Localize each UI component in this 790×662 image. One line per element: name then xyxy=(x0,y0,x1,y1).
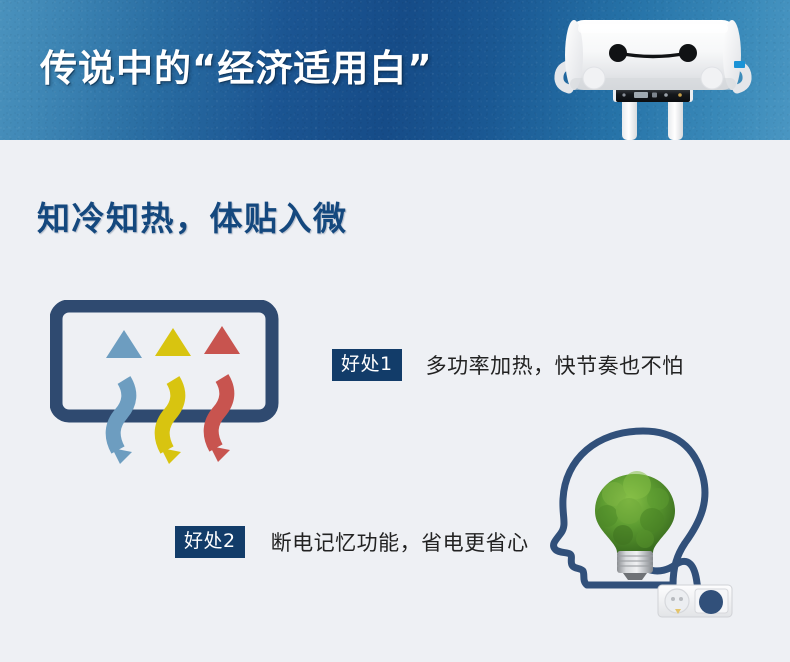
benefit-row-2: 好处2 断电记忆功能，省电更省心 xyxy=(175,526,529,558)
section-heading: 知冷知热，体贴入微 xyxy=(37,192,348,240)
heating-arrows-illustration xyxy=(50,300,285,472)
water-heater-mascot-icon xyxy=(530,0,790,140)
product-detail-page: 传说中的“经济适用白” xyxy=(0,0,790,662)
benefit-badge-2: 好处2 xyxy=(175,526,245,558)
benefit-badge-1: 好处1 xyxy=(332,349,402,381)
benefit-row-1: 好处1 多功率加热，快节奏也不怕 xyxy=(332,349,684,381)
hero-banner: 传说中的“经济适用白” xyxy=(0,0,790,140)
benefit-text-2: 断电记忆功能，省电更省心 xyxy=(271,527,529,557)
banner-title: 传说中的“经济适用白” xyxy=(40,38,433,92)
benefit-text-1: 多功率加热，快节奏也不怕 xyxy=(426,350,684,380)
head-eco-bulb-illustration xyxy=(525,415,770,630)
